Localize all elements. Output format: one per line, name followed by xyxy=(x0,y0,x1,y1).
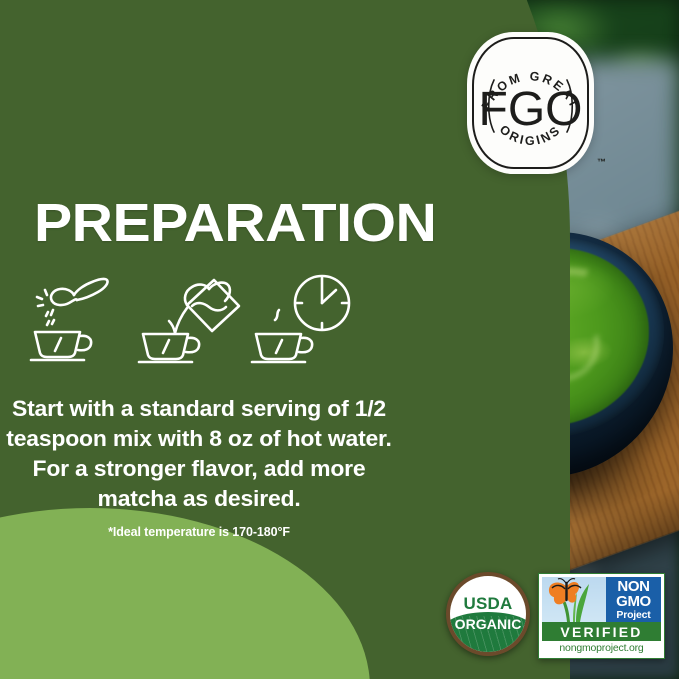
butterfly-and-grass-icon xyxy=(542,577,606,622)
non-gmo-verified-bar: VERIFIED xyxy=(542,622,661,641)
non-gmo-url: nongmoproject.org xyxy=(542,641,661,655)
cup-steam-clock-icon xyxy=(248,268,361,366)
page-title: PREPARATION xyxy=(34,192,436,254)
non-gmo-line-3: Project xyxy=(616,610,650,621)
trademark-symbol: ™ xyxy=(597,157,606,167)
usda-seal-top-text: USDA xyxy=(450,594,526,614)
usda-organic-seal: USDA ORGANIC xyxy=(446,572,530,656)
instructions-line-1: Start with a standard serving of 1/2 xyxy=(4,394,394,424)
preparation-steps-icons xyxy=(22,268,362,366)
pour-sachet-into-cup-icon xyxy=(135,268,248,366)
instructions-text: Start with a standard serving of 1/2 tea… xyxy=(4,394,394,514)
non-gmo-line-2: GMO xyxy=(616,594,651,609)
instructions-line-2: teaspoon mix with 8 oz of hot water. xyxy=(4,424,394,454)
step-3 xyxy=(248,268,361,366)
temperature-footnote: *Ideal temperature is 170-180°F xyxy=(8,525,390,539)
spoon-sprinkle-into-cup-icon xyxy=(22,268,135,366)
non-gmo-project-verified-badge: NON GMO Project VERIFIED nongmoproject.o… xyxy=(538,573,665,659)
instructions-line-3: For a stronger flavor, add more xyxy=(4,454,394,484)
svg-text:FGO: FGO xyxy=(479,83,583,136)
step-2 xyxy=(135,268,248,366)
usda-seal-bottom-text: ORGANIC xyxy=(450,616,526,632)
instructions-line-4: matcha as desired. xyxy=(4,484,394,514)
step-1 xyxy=(22,268,135,366)
fgo-logo: FROM GREAT ORIGINS FGO xyxy=(467,32,594,174)
non-gmo-text-panel: NON GMO Project xyxy=(606,577,661,622)
non-gmo-badge-top: NON GMO Project xyxy=(542,577,661,622)
usda-seal-inner: USDA ORGANIC xyxy=(450,576,526,652)
non-gmo-line-1: NON xyxy=(617,579,649,594)
product-image-canvas: FROM GREAT ORIGINS FGO ™ PREPARATION xyxy=(0,0,679,679)
non-gmo-butterfly-panel xyxy=(542,577,606,622)
fgo-logo-artwork: FROM GREAT ORIGINS FGO xyxy=(467,32,594,174)
